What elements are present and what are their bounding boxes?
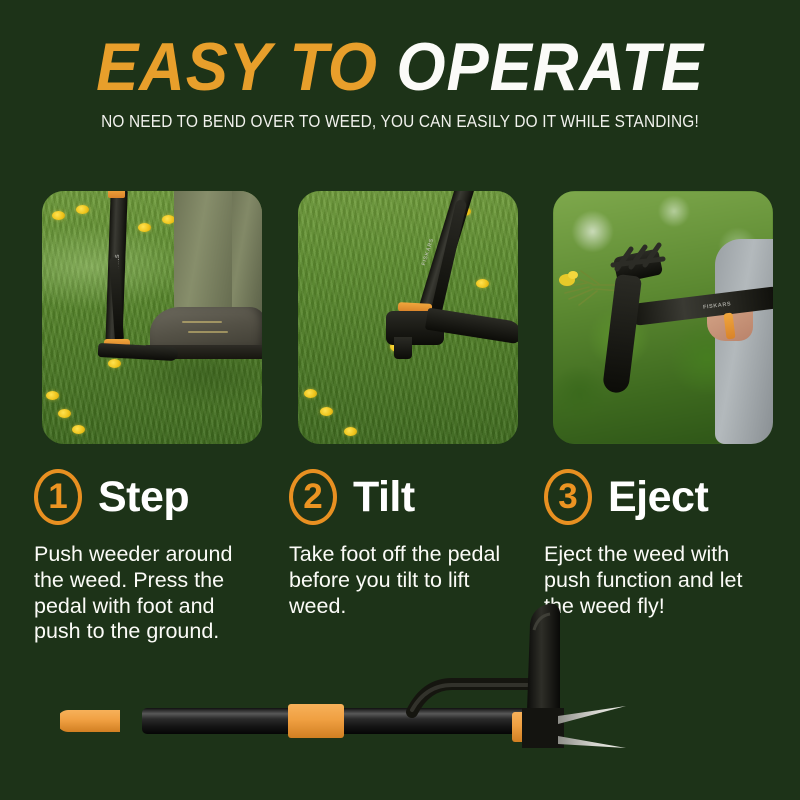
photo-panel-row: FISKARS FISKARS <box>42 191 773 444</box>
product-image <box>60 590 750 780</box>
product-shaft <box>142 708 562 734</box>
dandelion-icon <box>76 205 89 214</box>
dandelion-icon <box>138 223 151 232</box>
dandelion-icon <box>304 389 317 398</box>
step-number-badge: 1 <box>34 469 82 525</box>
dandelion-icon <box>344 427 357 436</box>
step-header: 3 Eject <box>544 466 778 528</box>
step-number-badge: 2 <box>289 469 337 525</box>
weeder-claw-icon <box>601 239 681 279</box>
header: EASY TO OPERATE NO NEED TO BEND OVER TO … <box>0 0 800 132</box>
step-title: Step <box>98 473 189 522</box>
dandelion-icon <box>108 359 121 368</box>
step-title: Tilt <box>353 473 415 522</box>
dandelion-icon <box>58 409 71 418</box>
weeder-shaft-tip <box>108 191 125 198</box>
product-arched-handle <box>412 684 530 712</box>
page-title: EASY TO OPERATE <box>28 34 772 101</box>
dandelion-icon <box>46 391 59 400</box>
product-mid-collar <box>288 704 344 738</box>
headline-emphasis: EASY TO <box>96 29 378 105</box>
photo-step-eject: FISKARS <box>553 191 773 444</box>
step-number-badge: 3 <box>544 469 592 525</box>
weeder-tine <box>394 337 412 359</box>
photo-step-step: FISKARS <box>42 191 262 444</box>
product-head-body <box>522 708 564 748</box>
product-tine-lower <box>558 736 626 748</box>
step-header: 1 Step <box>34 466 289 528</box>
dandelion-icon <box>72 425 85 434</box>
headline-main: OPERATE <box>396 29 704 105</box>
dandelion-icon <box>476 279 489 288</box>
step-title: Eject <box>608 473 708 522</box>
step-header: 2 Tilt <box>289 466 544 528</box>
boot-lace <box>188 331 228 333</box>
photo-step-tilt: FISKARS <box>298 191 518 444</box>
dandelion-icon <box>52 211 65 220</box>
product-grip-cap <box>60 710 120 732</box>
subheadline: NO NEED TO BEND OVER TO WEED, YOU CAN EA… <box>48 111 752 132</box>
product-tine-upper <box>558 706 626 724</box>
boot-lace <box>182 321 222 323</box>
dandelion-icon <box>320 407 333 416</box>
forearm <box>715 239 773 444</box>
